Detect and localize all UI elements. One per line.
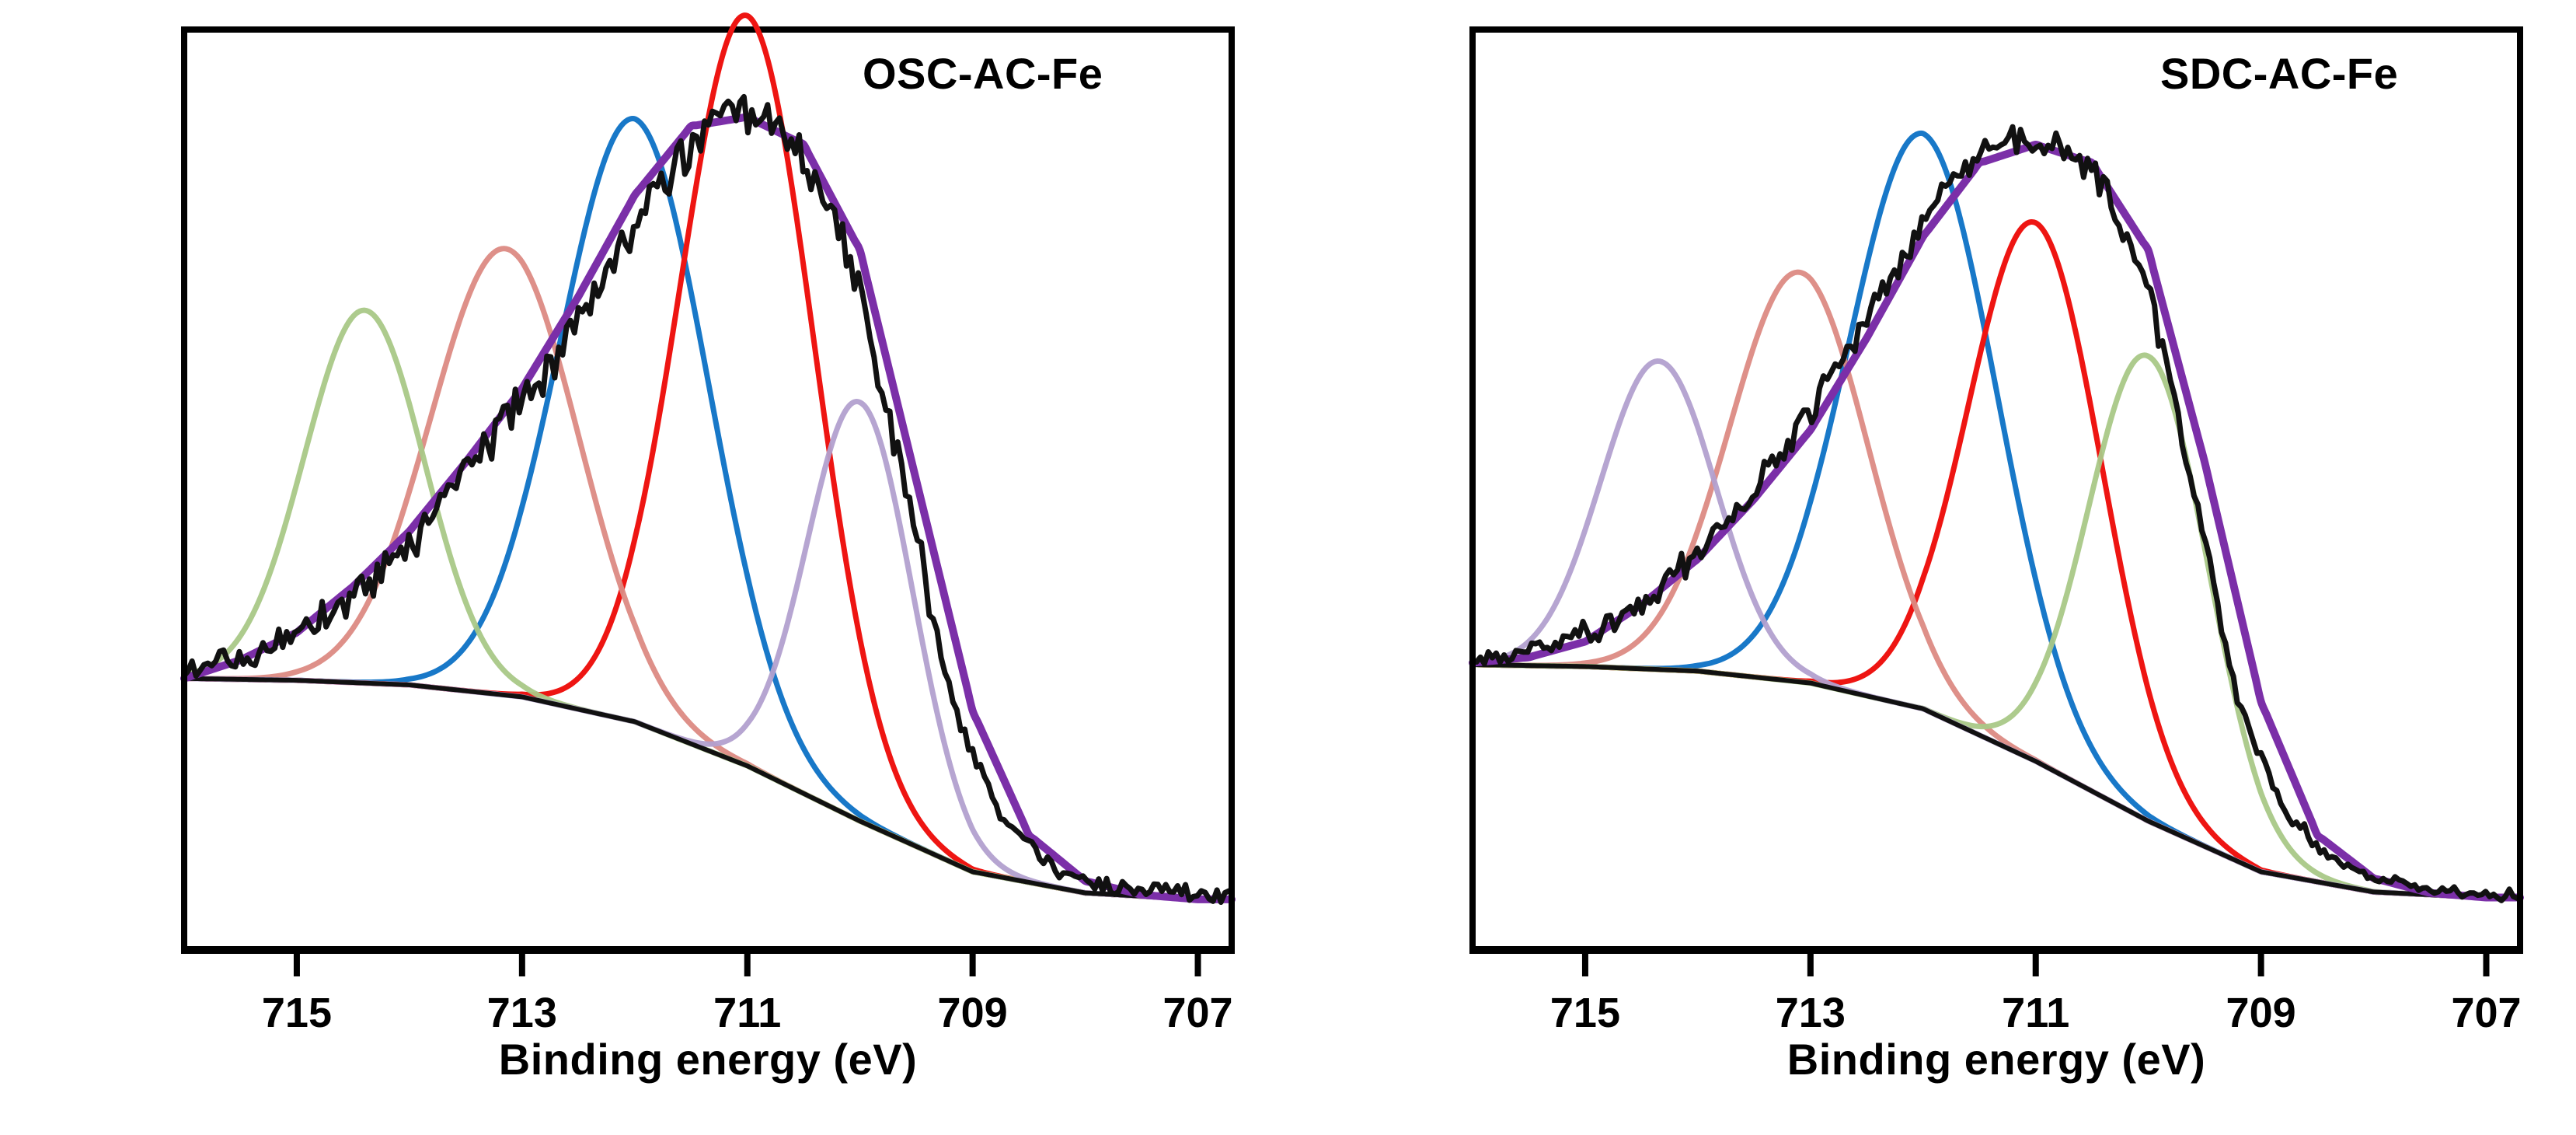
background-line [1473,665,2520,898]
background-line [184,679,1232,899]
component-peak-1 [184,118,1229,899]
raw-spectrum [1473,127,2517,900]
x-tick-label-707: 707 [1121,989,1276,1037]
component-peak-2 [1473,222,2518,897]
envelope-curve [184,117,1232,899]
sample-label-right: SDC-AC-Fe [2160,48,2398,99]
x-tick-label-711: 711 [670,989,825,1037]
x-tick-label-711: 711 [1958,989,2114,1037]
x-tick-label-715: 715 [219,989,375,1037]
x-tick-label-709: 709 [2184,989,2339,1037]
envelope-curve [1473,145,2520,898]
component-peak-2 [184,16,1229,899]
xps-figure: Arbitrary units OSC-AC-Fe Binding energy… [0,0,2576,1135]
plot-area-right [1288,0,2576,1135]
x-tick-label-709: 709 [895,989,1051,1037]
plot-area-left [0,0,1288,1135]
plot-frame [1473,30,2520,950]
component-peak-5 [184,402,1229,899]
plot-frame [184,30,1232,950]
component-peak-5 [1473,361,2518,898]
component-peak-3 [184,249,1229,899]
x-tick-label-715: 715 [1508,989,1663,1037]
x-tick-label-713: 713 [444,989,600,1037]
component-peak-1 [1473,133,2518,897]
x-axis-label-left: Binding energy (eV) [184,1034,1232,1084]
raw-spectrum [184,96,1229,902]
x-tick-label-713: 713 [1733,989,1888,1037]
panel-sdc-ac-fe: Arbitrary units SDC-AC-Fe Binding energy… [1288,0,2576,1135]
component-peak-3 [1473,272,2518,897]
component-peak-4 [1473,355,2518,898]
panel-osc-ac-fe: Arbitrary units OSC-AC-Fe Binding energy… [0,0,1288,1135]
x-tick-label-707: 707 [2409,989,2564,1037]
x-axis-label-right: Binding energy (eV) [1473,1034,2520,1084]
sample-label-left: OSC-AC-Fe [863,48,1103,99]
